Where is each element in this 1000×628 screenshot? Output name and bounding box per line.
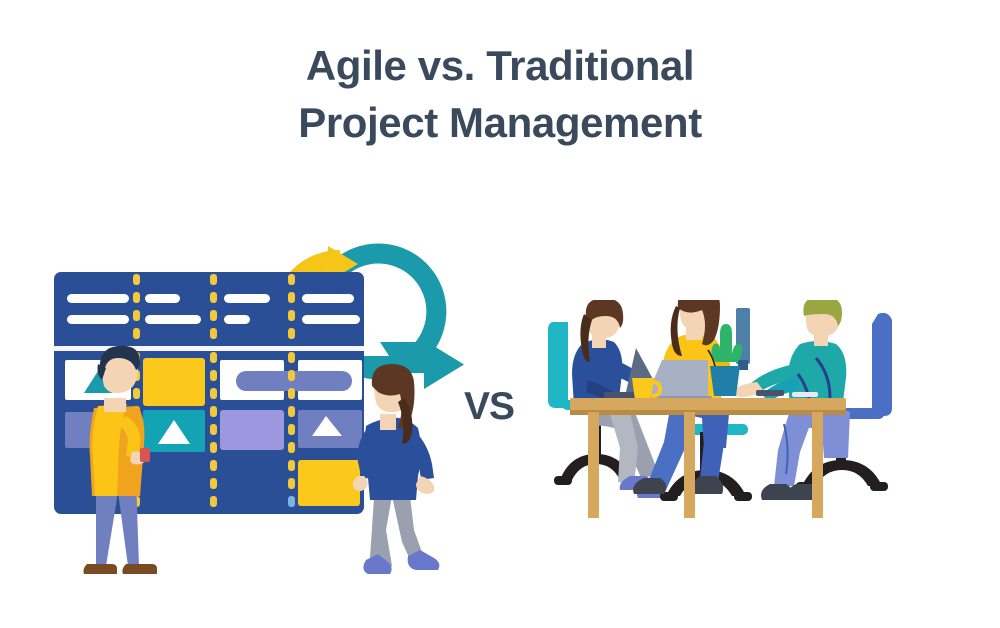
desk-tablet	[756, 390, 784, 396]
traditional-meeting-illustration	[548, 300, 968, 520]
infographic-canvas: Agile vs. Traditional Project Management	[0, 0, 1000, 628]
page-title-line-2: Project Management	[0, 95, 1000, 152]
agile-kanban-illustration	[40, 230, 480, 600]
page-title-line-1: Agile vs. Traditional	[306, 42, 694, 89]
person-woman-walking	[353, 364, 440, 574]
board-card	[298, 460, 360, 506]
desk-paper	[792, 392, 818, 397]
page-title: Agile vs. Traditional Project Management	[0, 38, 1000, 151]
versus-label: VS	[464, 385, 514, 429]
board-card	[220, 410, 284, 450]
board-card	[143, 358, 205, 406]
